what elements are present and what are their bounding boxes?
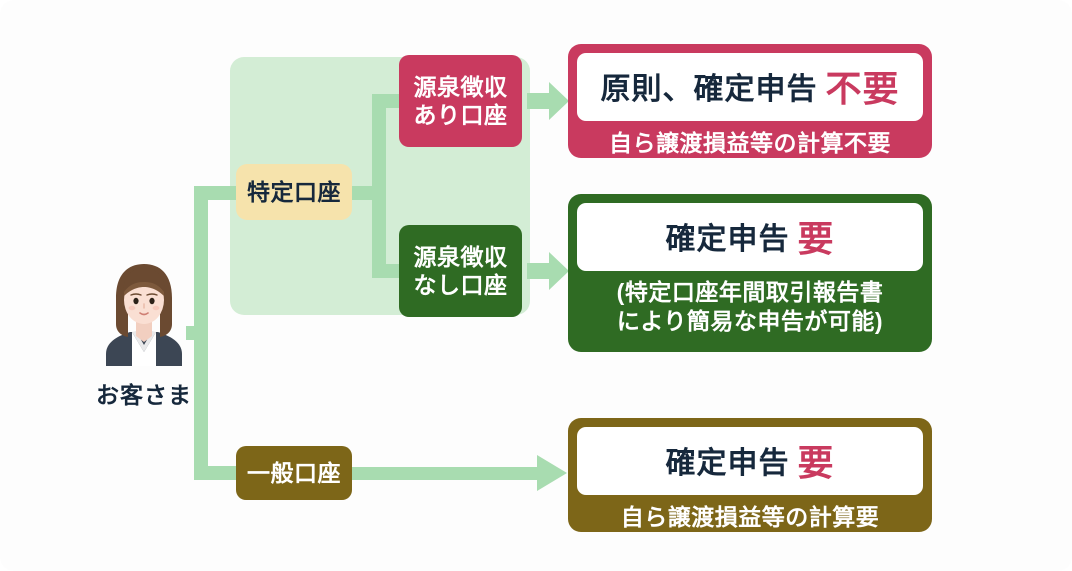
result-sub-withholding-no: (特定口座年間取引報告書 により簡易な申告が可能) — [577, 271, 923, 340]
result-sub-withholding-yes: 自ら譲渡損益等の計算不要 — [577, 121, 923, 161]
result-sub-general-account: 自ら譲渡損益等の計算要 — [577, 495, 923, 535]
result-card-withholding-yes: 原則、確定申告 不要 自ら譲渡損益等の計算不要 — [568, 44, 932, 158]
arrow-shaft — [352, 467, 540, 480]
result-head-accent: 不要 — [825, 60, 899, 112]
result-head-withholding-no: 確定申告 要 — [577, 203, 923, 271]
arrow-to-result-general-account — [352, 455, 567, 491]
label-withholding-no-line1: 源泉徴収 — [414, 243, 508, 271]
result-head-accent: 要 — [797, 210, 834, 262]
label-ippan-kouza[interactable]: 一般口座 — [236, 446, 352, 500]
result-head-main: 確定申告 — [665, 214, 789, 258]
arrow-shaft — [527, 93, 551, 109]
result-card-withholding-no: 確定申告 要 (特定口座年間取引報告書 により簡易な申告が可能) — [568, 194, 932, 352]
connector-tokutei-bracket — [372, 94, 386, 278]
result-head-accent: 要 — [797, 434, 834, 486]
result-head-general-account: 確定申告 要 — [577, 427, 923, 495]
label-withholding-yes[interactable]: 源泉徴収 あり口座 — [399, 55, 522, 147]
arrow-to-result-withholding-no — [527, 252, 569, 290]
result-head-main: 原則、確定申告 — [600, 64, 817, 108]
result-card-general-account: 確定申告 要 自ら譲渡損益等の計算要 — [568, 418, 932, 532]
result-head-main: 確定申告 — [665, 438, 789, 482]
arrow-to-result-withholding-yes — [527, 82, 569, 120]
label-withholding-no-line2: なし口座 — [414, 271, 508, 299]
result-sub-line1: (特定口座年間取引報告書 — [579, 278, 921, 307]
label-tokutei-kouza[interactable]: 特定口座 — [236, 164, 352, 220]
avatar-caption: お客さま — [76, 376, 212, 410]
result-sub-line2: により簡易な申告が可能) — [579, 307, 921, 336]
arrow-head — [549, 252, 569, 290]
label-withholding-yes-line2: あり口座 — [414, 101, 508, 129]
avatar — [96, 258, 192, 366]
arrow-head — [549, 82, 569, 120]
result-head-withholding-yes: 原則、確定申告 不要 — [577, 53, 923, 121]
diagram-canvas: お客さま 特定口座 一般口座 源泉徴収 あり口座 源泉徴収 なし口座 原則、確定… — [0, 0, 1072, 571]
arrow-shaft — [527, 263, 551, 279]
label-withholding-no[interactable]: 源泉徴収 なし口座 — [399, 225, 522, 317]
arrow-head — [537, 455, 567, 491]
label-withholding-yes-line1: 源泉徴収 — [414, 73, 508, 101]
woman-avatar-icon — [96, 258, 192, 366]
connector-main-trunk — [194, 186, 208, 480]
